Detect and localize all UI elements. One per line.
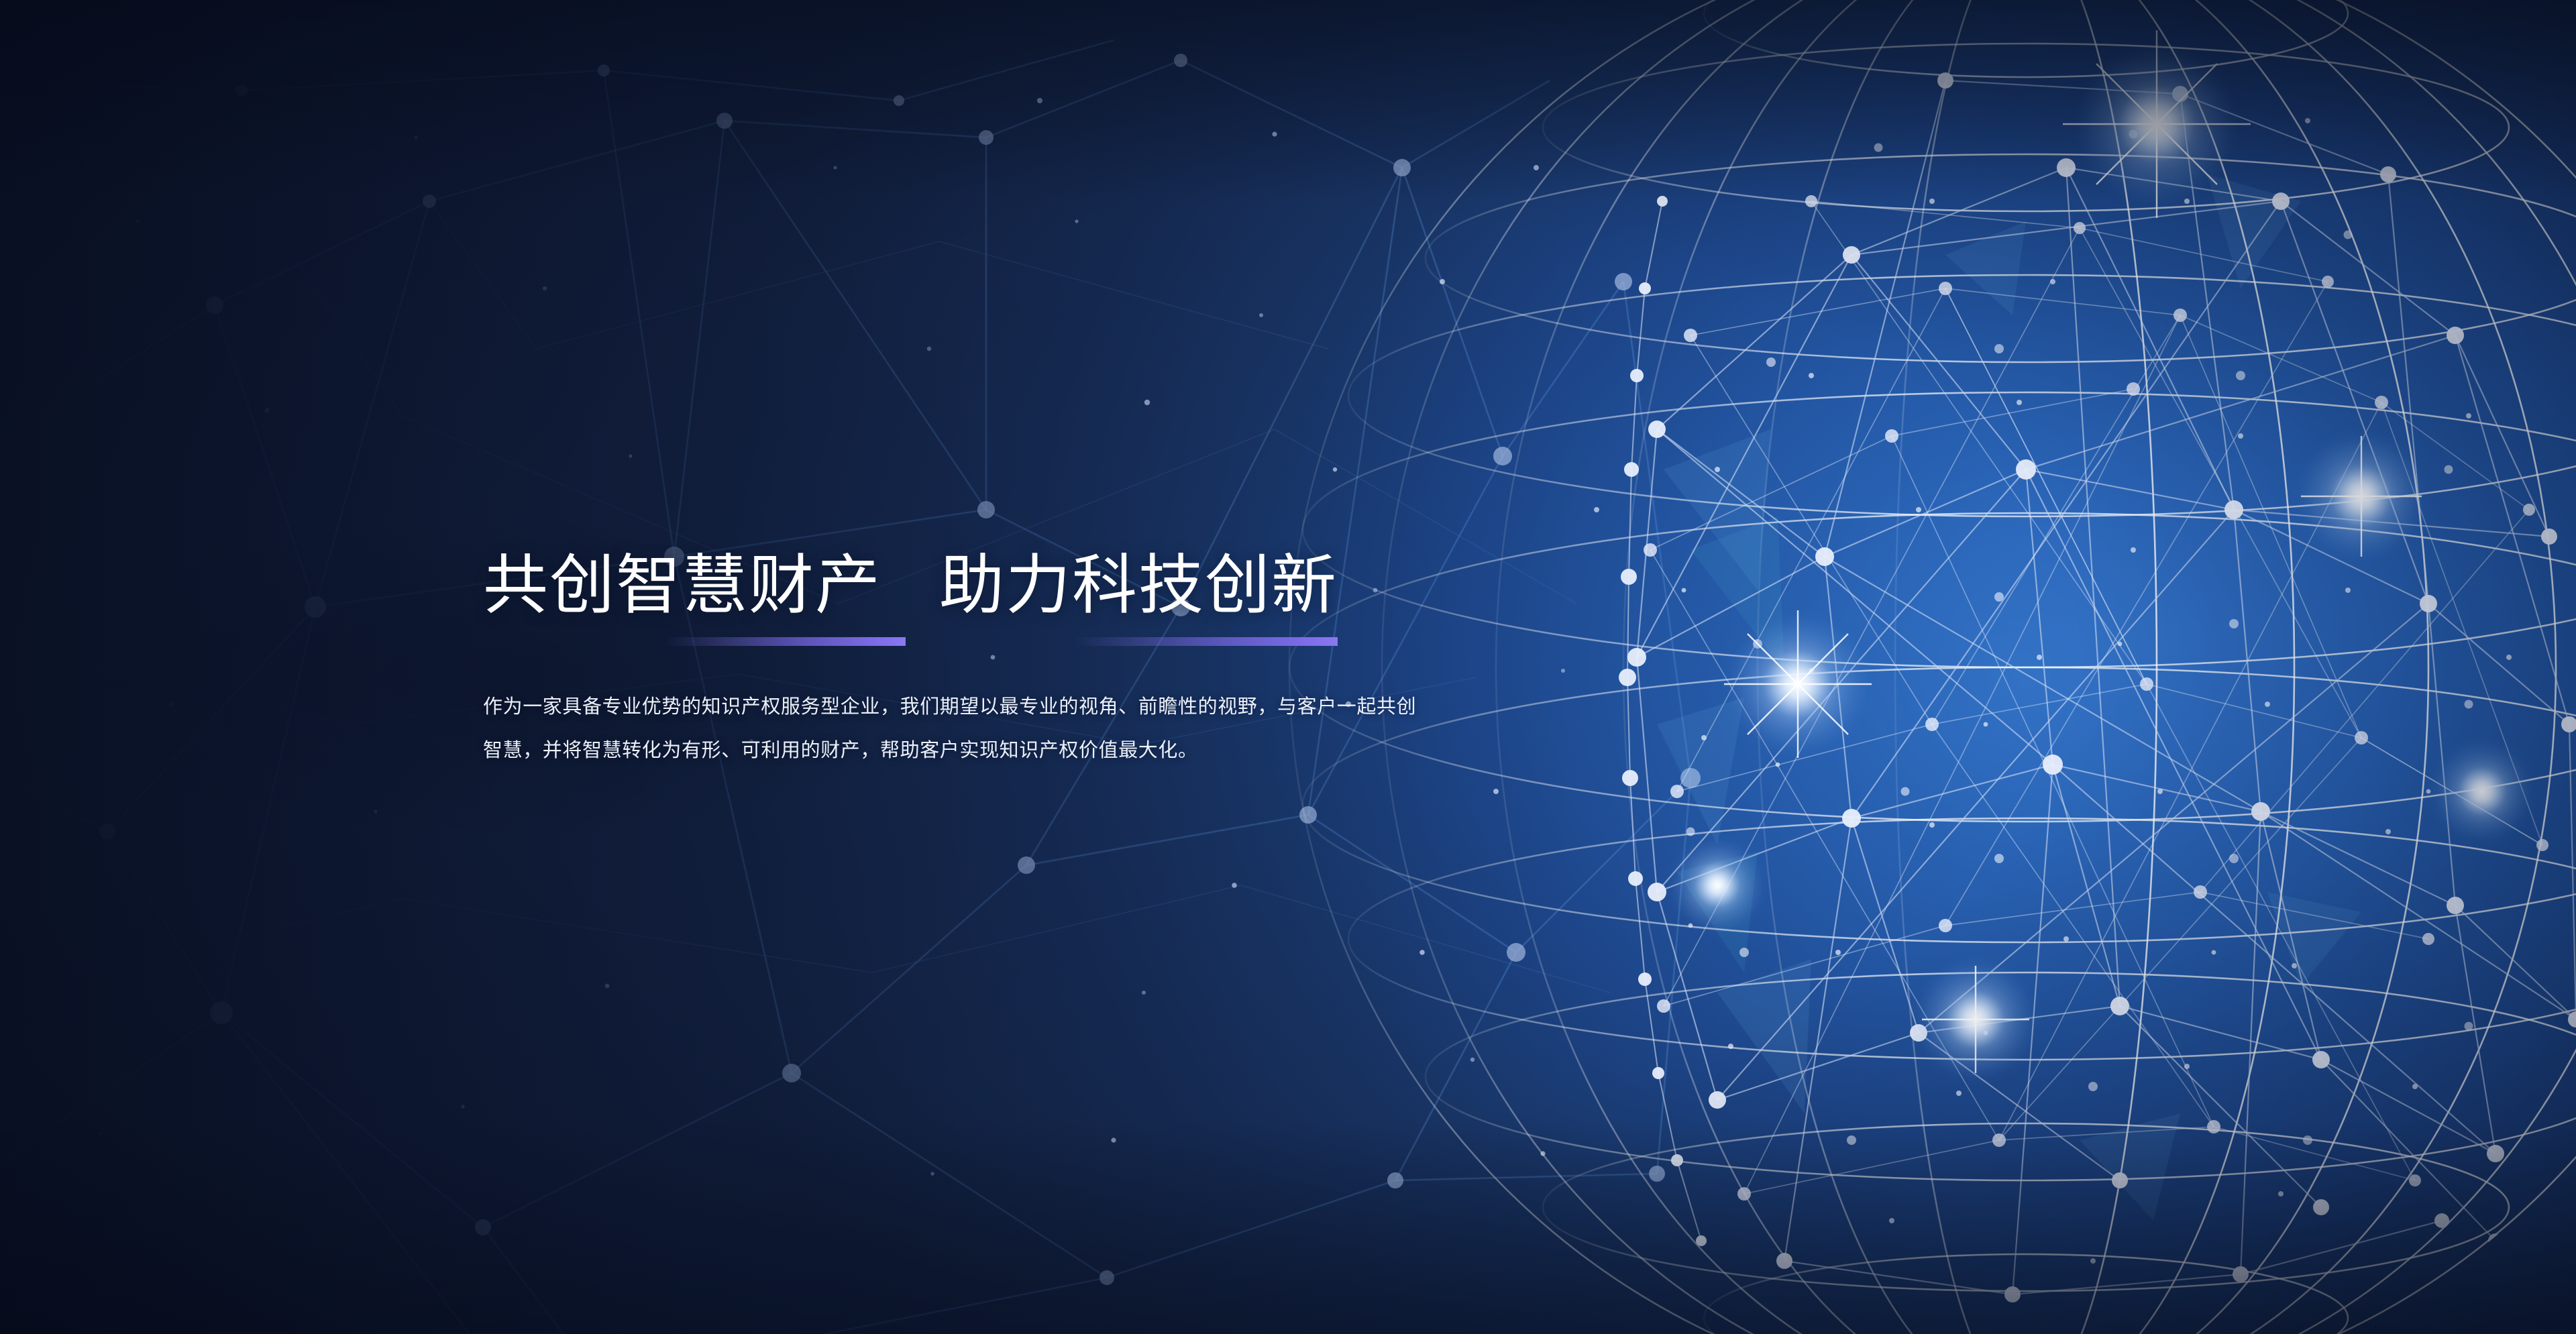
headline-segment-1-text: 共创智慧财产 xyxy=(483,549,881,622)
headline-underline-1 xyxy=(666,637,905,646)
headline-segment-2-text: 助力科技创新 xyxy=(939,549,1338,622)
hero-banner: 共创智慧财产 助力科技创新 作为一家具备专业优势的知识产权服务型企业，我们期望以… xyxy=(0,0,2576,1334)
hero-copy-block: 共创智慧财产 助力科技创新 作为一家具备专业优势的知识产权服务型企业，我们期望以… xyxy=(483,551,1462,792)
headline-underline-2 xyxy=(1075,637,1338,646)
hero-body-text: 作为一家具备专业优势的知识产权服务型企业，我们期望以最专业的视角、前瞻性的视野，… xyxy=(483,685,1419,773)
headline-segment-1: 共创智慧财产 xyxy=(483,551,881,620)
headline-segment-2: 助力科技创新 xyxy=(939,551,1338,620)
hero-headline: 共创智慧财产 助力科技创新 xyxy=(483,551,1462,620)
